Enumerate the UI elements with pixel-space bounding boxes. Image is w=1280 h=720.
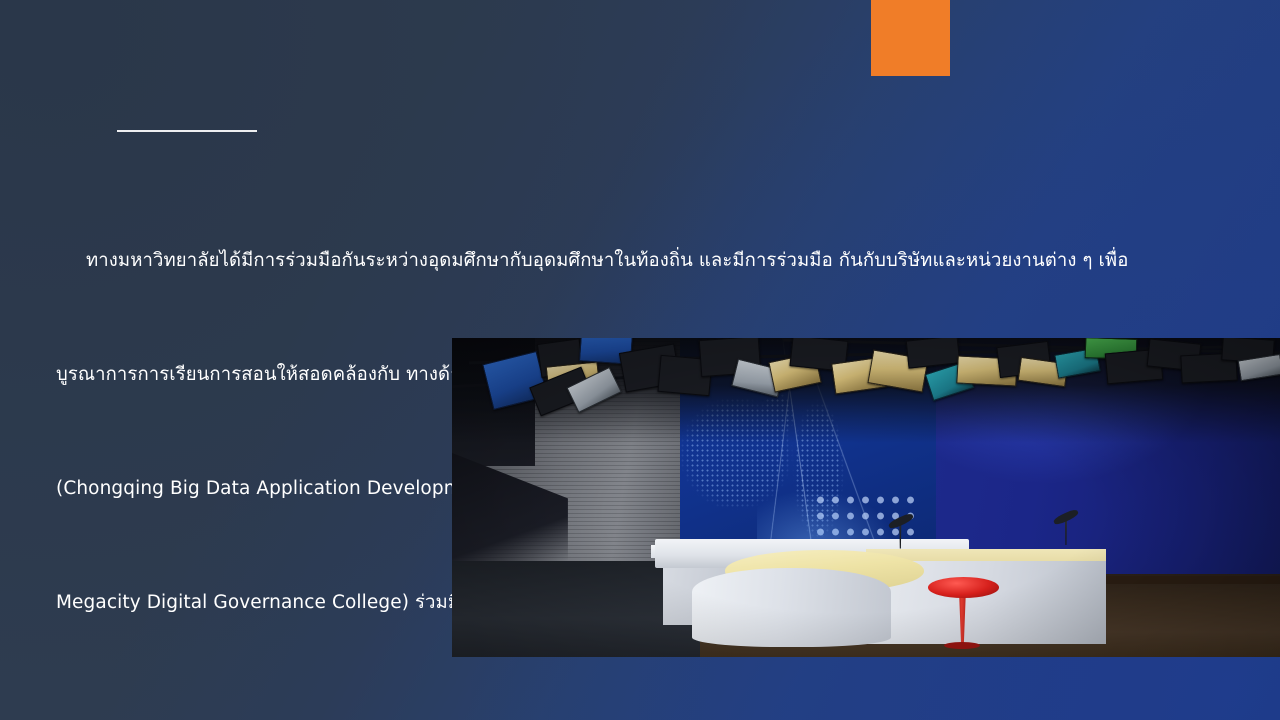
studio-photo-content [452, 338, 1280, 657]
presentation-slide: ทางมหาวิทยาลัยได้มีการร่วมมือกันระหว่างอ… [0, 0, 1280, 720]
stool-base [944, 642, 980, 649]
body-line-1: ทางมหาวิทยาลัยได้มีการร่วมมือกันระหว่างอ… [56, 242, 1248, 280]
studio-photo [452, 338, 1280, 657]
desk-front-curve [692, 568, 891, 648]
orange-accent-block [871, 0, 950, 76]
red-bar-stool-seat [928, 577, 999, 598]
decorative-rule [117, 130, 257, 132]
